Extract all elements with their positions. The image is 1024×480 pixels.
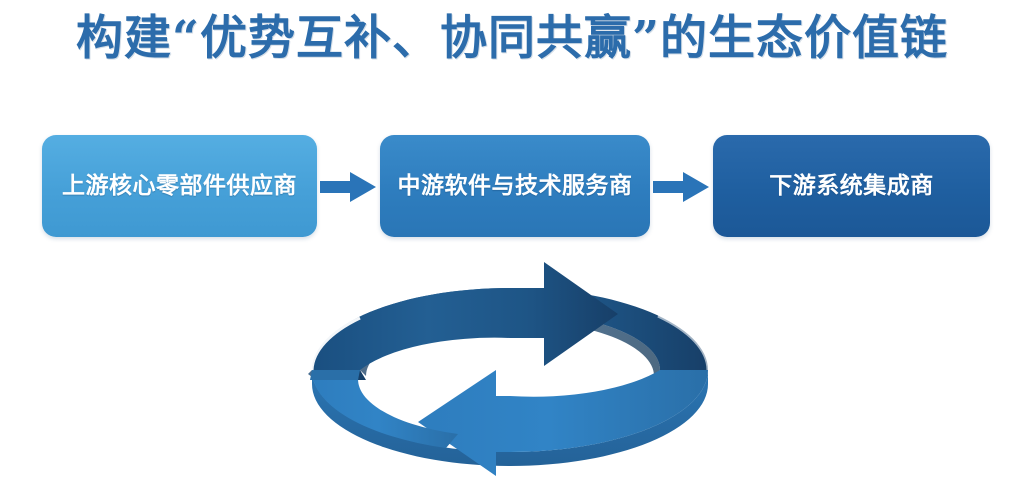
page-title: 构建“优势互补、协同共赢”的生态价值链 [0,8,1024,70]
chain-box-downstream[interactable]: 下游系统集成商 [713,135,990,237]
chain-box-midstream[interactable]: 中游软件与技术服务商 [380,135,650,237]
chain-box-upstream-label: 上游核心零部件供应商 [62,173,297,200]
value-chain-row: 上游核心零部件供应商 中游软件与技术服务商 下游系统集成商 [0,135,1024,237]
circular-cycle-arrows-icon [306,252,726,476]
chain-box-upstream[interactable]: 上游核心零部件供应商 [42,135,317,237]
chain-box-midstream-label: 中游软件与技术服务商 [398,173,633,200]
arrow-right-icon [653,172,709,202]
arrow-right-icon [320,172,376,202]
chain-box-downstream-label: 下游系统集成商 [769,173,934,200]
slide-canvas: 构建“优势互补、协同共赢”的生态价值链 上游核心零部件供应商 中游软件与技术服务… [0,0,1024,480]
